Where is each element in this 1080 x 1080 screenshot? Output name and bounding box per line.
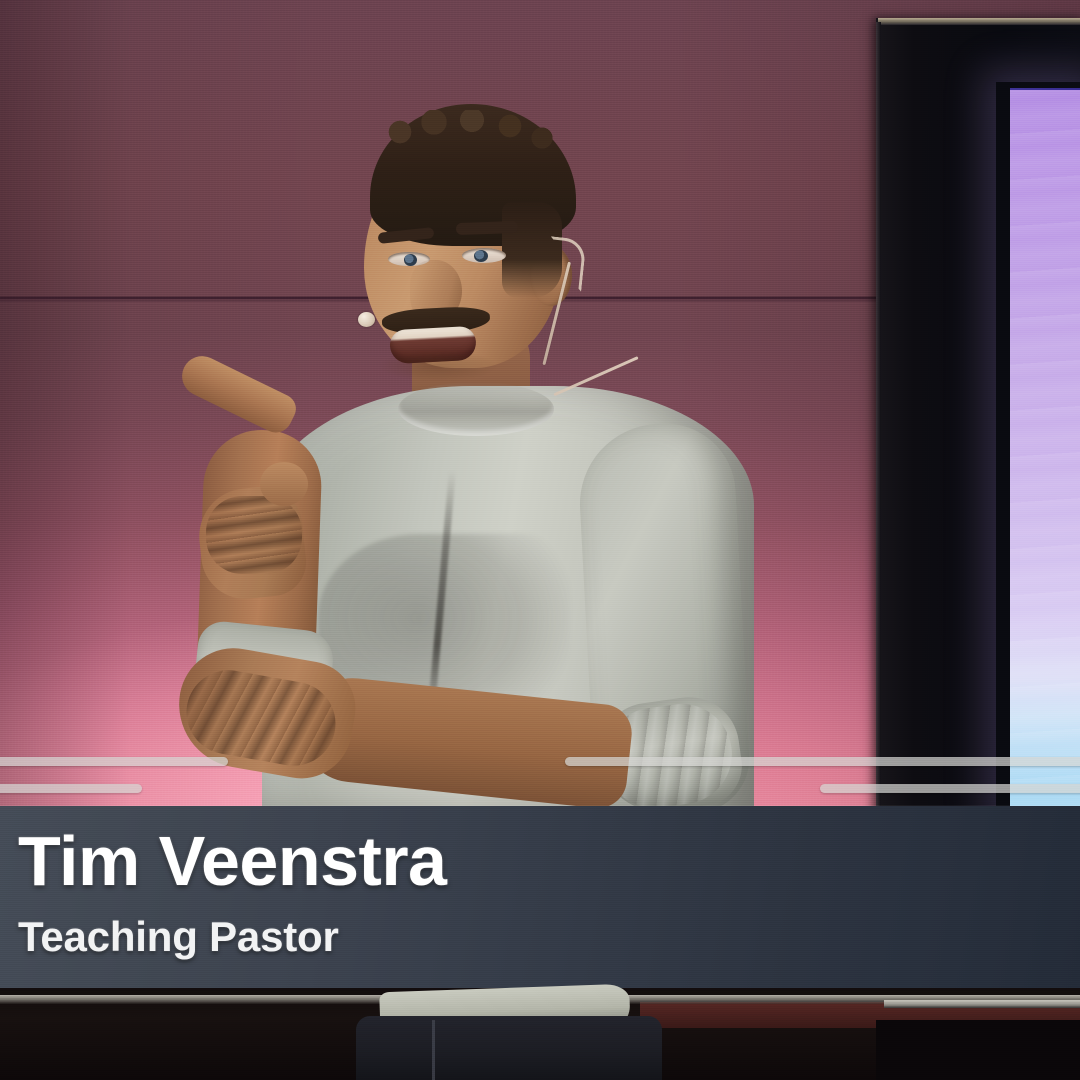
speaker-pointing-hand [172, 400, 320, 600]
headset-mic-capsule [358, 312, 375, 327]
lower-third-text-block: Tim Veenstra Teaching Pastor [18, 826, 1060, 958]
headset-earhook-icon [545, 236, 586, 291]
speaker-role-title: Teaching Pastor [18, 916, 1060, 958]
speaker-jeans [356, 1016, 662, 1080]
speaker-eyebrow-right [456, 221, 518, 235]
lower-third-accent-bar-4 [820, 784, 1080, 793]
video-frame: Tim Veenstra Teaching Pastor [0, 0, 1080, 1080]
speaker-eye-right [462, 248, 506, 263]
pointing-hand-thumb [260, 462, 308, 506]
monitor-base-shadow [876, 1020, 1080, 1080]
sweater-collar [398, 382, 554, 436]
lower-third-accent-bar-2 [565, 757, 1080, 766]
lower-third-banner: Tim Veenstra Teaching Pastor [0, 806, 1080, 988]
speaker-name: Tim Veenstra [18, 826, 1060, 896]
lower-third-accent-bar-3 [0, 784, 142, 793]
pointing-hand-knuckles [206, 496, 302, 574]
pointing-index-finger [175, 349, 300, 438]
speaker-hair-curls [386, 110, 562, 174]
speaker-head [352, 110, 582, 372]
lower-third-accent-bar-1 [0, 757, 228, 766]
speaker-jeans-seam [432, 1020, 435, 1080]
speaker-chin-shadow [378, 350, 498, 382]
stage-edge-highlight-right [884, 1000, 1080, 1008]
